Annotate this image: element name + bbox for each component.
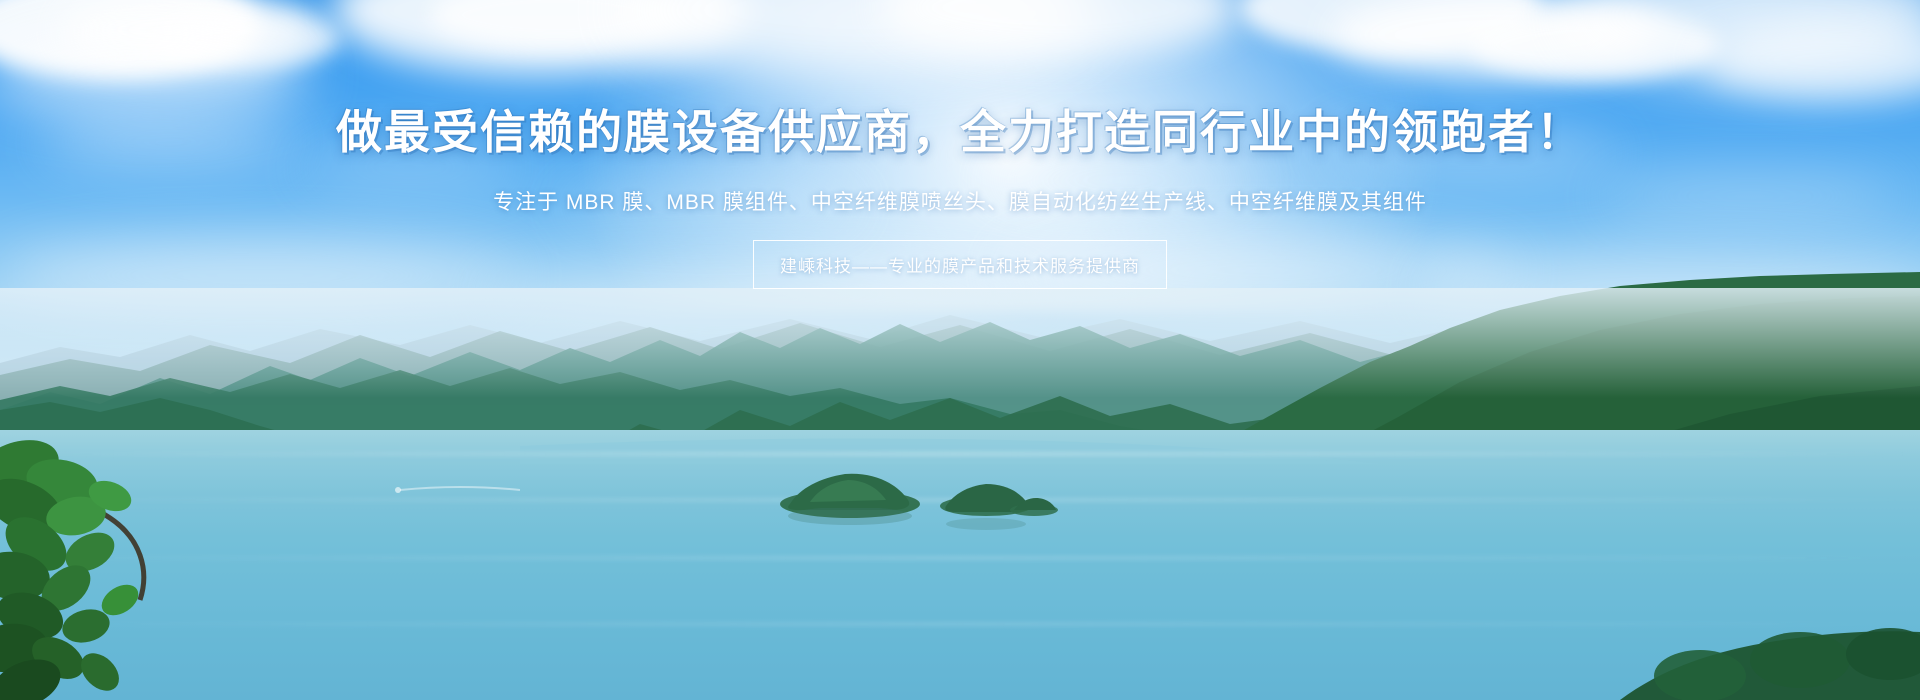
cloud: [1600, 175, 1900, 217]
cloud: [560, 185, 860, 225]
cloud: [40, 120, 300, 164]
foreground-foliage-right: [0, 560, 1920, 700]
cloud: [300, 150, 520, 184]
hero-banner: 做最受信赖的膜设备供应商，全力打造同行业中的领跑者！ 专注于 MBR 膜、MBR…: [0, 0, 1920, 700]
cloud: [1320, 130, 1620, 176]
cloud: [980, 160, 1260, 200]
